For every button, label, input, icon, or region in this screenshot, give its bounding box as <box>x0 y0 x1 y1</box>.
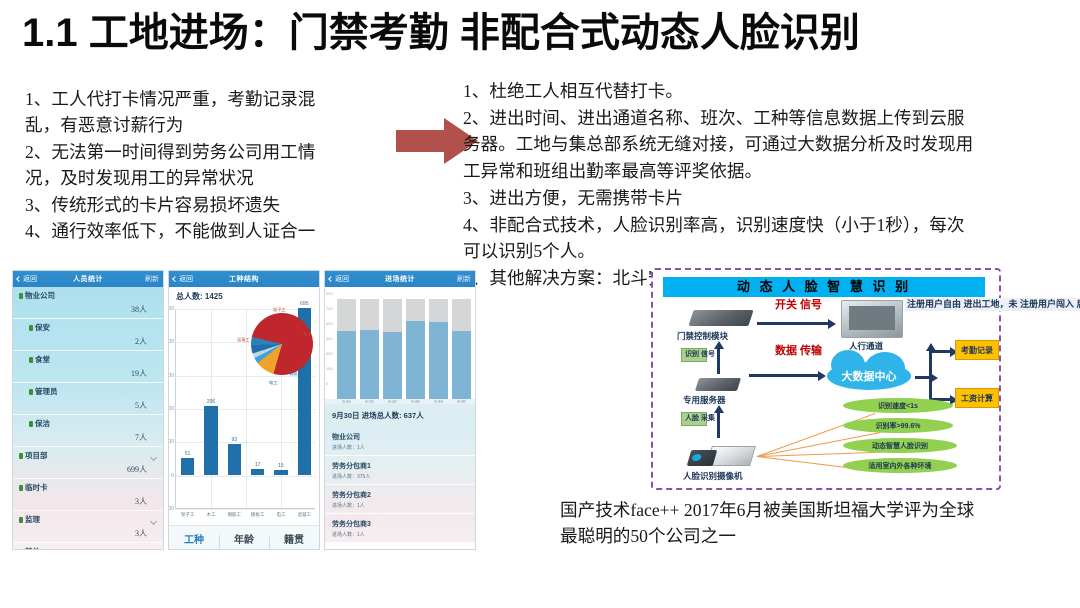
data-transfer-label: 数据 传输 <box>775 346 822 358</box>
data-transfer-arrow <box>749 374 819 377</box>
x-tick-label: 9-28 <box>406 399 425 404</box>
list-item-name: 劳务分包商2 <box>332 490 468 500</box>
face-capture-arrow <box>717 412 720 438</box>
phone1-navbar: 返回 人员统计 刷新 <box>13 271 163 287</box>
list-item-count: 3人 <box>135 528 147 539</box>
list-item[interactable]: 劳务分包商2进场人数：1人 <box>325 485 475 514</box>
list-item[interactable]: 保安2人 <box>13 319 163 351</box>
bar-value: 695 <box>300 301 308 307</box>
attendance-arrow <box>929 350 951 353</box>
bar-fill <box>337 331 356 399</box>
y-tick-label: 150 <box>326 366 333 371</box>
bar-rect <box>204 406 217 475</box>
list-item[interactable]: 其他107人 <box>13 543 163 550</box>
right-item-1: 1、杜绝工人相互代替打卡。 <box>463 78 1075 105</box>
list-item-count: 3人 <box>135 496 147 507</box>
pie-label-0: 架子工 <box>273 307 286 313</box>
bar: 15 <box>274 463 287 475</box>
group-icon <box>19 517 23 523</box>
left-problem-list: 1、工人代打卡情况严重，考勤记录混 乱，有恶意讨薪行为 2、无法第一时间得到劳务… <box>25 86 395 244</box>
list-item[interactable]: 物业公司进场人数：1人 <box>325 427 475 456</box>
list-item-text: 食堂 <box>35 354 50 365</box>
bar <box>383 299 402 399</box>
page-title: 1.1 工地进场：门禁考勤 非配合式动态人脸识别 <box>22 10 1062 56</box>
y-tick-label: 400 <box>168 339 174 345</box>
phone3-title: 进场统计 <box>365 274 435 284</box>
bar <box>406 299 425 399</box>
access-control-module-icon <box>688 310 753 326</box>
y-tick-label: 900 <box>326 291 333 296</box>
bar-fill <box>360 330 379 399</box>
list-item[interactable]: 劳务分包商3进场人数：1人 <box>325 514 475 543</box>
x-tick-label: 木工 <box>199 512 222 518</box>
bar-value: 93 <box>232 437 238 443</box>
list-item[interactable]: 物业公司38人 <box>13 287 163 319</box>
x-tick-label: 9-26 <box>383 399 402 404</box>
bar-value: 51 <box>185 451 191 457</box>
phone3-list[interactable]: 物业公司进场人数：1人劳务分包商1进场人数：375人劳务分包商2进场人数：1人劳… <box>325 427 475 543</box>
y-tick-label: 750 <box>326 306 333 311</box>
bar <box>429 299 448 399</box>
chevron-left-icon <box>172 276 178 282</box>
server-icon <box>695 378 741 391</box>
attendance-record-tag: 考勤记录 <box>955 340 999 360</box>
switch-signal-label: 开关 信号 <box>775 300 822 312</box>
bar-fill <box>429 322 448 399</box>
camera-label: 人脸识别摄像机 <box>683 470 743 482</box>
work-type-pie-chart <box>251 313 313 375</box>
y-tick-label: 600 <box>326 321 333 326</box>
list-item[interactable]: 食堂19人 <box>13 351 163 383</box>
list-item-text: 项目部 <box>25 450 48 461</box>
face-capture-tag: 人脸 采集 <box>681 412 707 426</box>
group-icon <box>29 325 33 331</box>
tab-工种[interactable]: 工种 <box>169 531 219 546</box>
recognition-signal-arrow <box>717 348 720 374</box>
list-item[interactable]: 项目部699人 <box>13 447 163 479</box>
list-item-count: 2人 <box>135 336 147 347</box>
list-item-sub: 进场人数：1人 <box>332 531 468 538</box>
y-tick-label: -100 <box>168 506 174 512</box>
bar-rect <box>181 458 194 475</box>
y-tick-label: 300 <box>168 373 174 379</box>
right-item-2: 2、进出时间、进出通道名称、班次、工种等信息数据上传到云服 务器。工地与集总部系… <box>463 105 1075 185</box>
phone2-title: 工种结构 <box>209 274 279 284</box>
datacenter-cloud: 大数据中心 <box>827 362 911 390</box>
list-item[interactable]: 管理员5人 <box>13 383 163 415</box>
pie-label-2: 钢筋工 <box>289 371 302 377</box>
switch-signal-arrow <box>757 322 829 325</box>
pedestrian-gate-inner <box>849 306 895 330</box>
list-item-count: 7人 <box>135 432 147 443</box>
accuracy-pill: 识别率>99.6% <box>843 418 953 433</box>
x-tick-label: 9-24 <box>337 399 356 404</box>
list-item-count: 38人 <box>131 304 147 315</box>
y-tick-label: 300 <box>326 351 333 356</box>
x-tick-label: 9-30 <box>452 399 471 404</box>
list-item-count: 19人 <box>131 368 147 379</box>
salary-calculation-tag: 工资计算 <box>955 388 999 408</box>
datacenter-label: 大数据中心 <box>842 368 897 384</box>
phone1-back-label: 返回 <box>23 274 37 284</box>
x-tick-label: 9-29 <box>429 399 448 404</box>
phone3-refresh-button[interactable]: 刷新 <box>435 274 471 284</box>
bar-value: 15 <box>278 463 284 469</box>
bar-fill <box>406 321 425 399</box>
list-item[interactable]: 保洁7人 <box>13 415 163 447</box>
x-tick-label: 钢筋工 <box>223 512 246 518</box>
phone3-back-label: 返回 <box>335 274 349 284</box>
chevron-left-icon <box>328 276 334 282</box>
list-item-label: 保洁 <box>19 418 157 429</box>
phone2-back-button[interactable]: 返回 <box>173 274 209 284</box>
face-recognition-diagram: 动 态 人 脸 智 慧 识 别 门禁控制模块 开关 信号 人行通道 注册用户自由… <box>651 268 1001 490</box>
bar-value: 17 <box>255 462 261 468</box>
y-tick-label: 200 <box>168 406 174 412</box>
bar: 51 <box>181 451 194 475</box>
bar: 206 <box>204 399 217 475</box>
phone3-body: 9007506004503001500 9-249-259-269-289-29… <box>325 287 475 550</box>
phone2-body: 总人数: 1425 -100010020030040050051架子工206木工… <box>169 287 319 550</box>
bar-rect <box>228 444 241 475</box>
entry-trend-chart: 9007506004503001500 <box>325 287 475 399</box>
y-tick-label: 100 <box>168 439 174 445</box>
list-item-sub: 进场人数：375人 <box>332 473 468 480</box>
phone1-back-button[interactable]: 返回 <box>17 274 53 284</box>
list-item-text: 物业公司 <box>25 290 55 301</box>
list-item-label: 临时卡 <box>19 482 157 493</box>
dynamic-recognition-pill: 动态智慧人脸识别 <box>843 438 957 453</box>
list-item-name: 劳务分包商3 <box>332 519 468 529</box>
list-item-sub: 进场人数：1人 <box>332 502 468 509</box>
x-tick-label: 架子工 <box>176 512 199 518</box>
bar: 93 <box>228 437 241 475</box>
phone1-list[interactable]: 物业公司38人保安2人食堂19人管理员5人保洁7人项目部699人临时卡3人监理3… <box>13 287 163 550</box>
list-item-text: 保安 <box>35 322 50 333</box>
bar-rect <box>251 469 264 475</box>
phone3-back-button[interactable]: 返回 <box>329 274 365 284</box>
list-item[interactable]: 临时卡3人 <box>13 479 163 511</box>
list-item-count: 699人 <box>127 464 147 475</box>
list-item-text: 其他 <box>25 546 40 550</box>
bar: 17 <box>251 462 264 475</box>
tab-年龄[interactable]: 年龄 <box>219 531 269 546</box>
gridline <box>176 509 315 510</box>
x-tick-label: 9-25 <box>360 399 379 404</box>
list-item-label: 管理员 <box>19 386 157 397</box>
tab-籍贯[interactable]: 籍贯 <box>269 531 319 546</box>
y-tick-label: 0 <box>168 473 174 479</box>
environment-pill: 适用室内外各种环境 <box>843 458 957 473</box>
chevron-left-icon <box>16 276 22 282</box>
registration-note: 注册用户自由 进出工地，未 注册用户闯入 后台自动报警 <box>905 298 1080 311</box>
list-item-text: 临时卡 <box>25 482 48 493</box>
arrow-shaft <box>396 130 446 152</box>
camera-lens-icon <box>687 450 718 466</box>
group-icon <box>29 421 33 427</box>
pie-label-3: 电工 <box>269 380 277 386</box>
datacenter-branch-trunk <box>929 350 932 400</box>
right-item-3: 3、进出方便，无需携带卡片 <box>463 185 1075 212</box>
list-item[interactable]: 监理3人 <box>13 511 163 543</box>
bar <box>452 299 471 399</box>
list-item-label: 保安 <box>19 322 157 333</box>
bar-fill <box>383 332 402 399</box>
list-item[interactable]: 劳务分包商1进场人数：375人 <box>325 456 475 485</box>
group-icon <box>19 549 23 551</box>
right-item-4: 4、非配合式技术，人脸识别率高，识别速度快（小于1秒），每次 可以识别5个人。 <box>463 212 1075 265</box>
phone-work-type-structure: 返回 工种结构 总人数: 1425 -100010020030040050051… <box>168 270 320 550</box>
bar <box>360 299 379 399</box>
y-tick-label: 0 <box>326 381 328 386</box>
list-item-label: 监理 <box>19 514 157 525</box>
bar-fill <box>452 331 471 399</box>
phone-entry-statistics: 返回 进场统计 刷新 9007506004503001500 9-249-259… <box>324 270 476 550</box>
face-plus-plus-caption: 国产技术face++ 2017年6月被美国斯坦福大学评为全球 最聪明的50个公司… <box>560 498 1060 549</box>
list-item-count: 5人 <box>135 400 147 411</box>
left-item-1: 1、工人代打卡情况严重，考勤记录混 乱，有恶意讨薪行为 <box>25 86 395 139</box>
app-screenshot-row: 返回 人员统计 刷新 物业公司38人保安2人食堂19人管理员5人保洁7人项目部6… <box>12 270 477 550</box>
recognition-signal-tag: 识别 信号 <box>681 348 707 362</box>
bar-rect <box>274 470 287 475</box>
phone2-total-label: 总人数: 1425 <box>169 287 319 302</box>
right-benefit-list: 1、杜绝工人相互代替打卡。 2、进出时间、进出通道名称、班次、工种等信息数据上传… <box>463 78 1075 292</box>
group-icon <box>29 357 33 363</box>
group-icon <box>19 453 23 459</box>
phone1-title: 人员统计 <box>53 274 123 284</box>
list-item-text: 管理员 <box>35 386 58 397</box>
y-tick-label: 450 <box>326 336 333 341</box>
list-item-text: 保洁 <box>35 418 50 429</box>
pie-label-4: 混凝工 <box>237 337 250 343</box>
x-tick-label: 电工 <box>269 512 292 518</box>
phone2-back-label: 返回 <box>179 274 193 284</box>
left-item-3: 3、传统形式的卡片容易损坏遗失 <box>25 192 395 218</box>
left-item-4: 4、通行效率低下，不能做到人证合一 <box>25 218 395 244</box>
phone-personnel-statistics: 返回 人员统计 刷新 物业公司38人保安2人食堂19人管理员5人保洁7人项目部6… <box>12 270 164 550</box>
phone3-summary: 9月30日 进场总人数: 637人 <box>325 404 475 427</box>
phone1-refresh-button[interactable]: 刷新 <box>123 274 159 284</box>
list-item-sub: 进场人数：1人 <box>332 444 468 451</box>
list-item-label: 食堂 <box>19 354 157 365</box>
list-item-label: 物业公司 <box>19 290 157 301</box>
bar <box>337 299 356 399</box>
entry-trend-xlabels: 9-249-259-269-289-299-30 <box>325 399 475 404</box>
phone2-navbar: 返回 工种结构 <box>169 271 319 287</box>
list-item-label: 其他 <box>19 546 157 550</box>
x-tick-label: 模板工 <box>246 512 269 518</box>
group-icon <box>19 293 23 299</box>
phone3-navbar: 返回 进场统计 刷新 <box>325 271 475 287</box>
diagram-title: 动 态 人 脸 智 慧 识 别 <box>663 277 985 297</box>
group-icon <box>29 389 33 395</box>
speed-pill: 识别速度<1s <box>843 398 953 413</box>
pie-label-1: 木工 <box>303 331 311 337</box>
list-item-name: 劳务分包商1 <box>332 461 468 471</box>
phone2-tabs: 工种年龄籍贯 <box>169 525 319 550</box>
group-icon <box>19 485 23 491</box>
list-item-name: 物业公司 <box>332 432 468 442</box>
left-item-2: 2、无法第一时间得到劳务公司用工情 况，及时发现用工的异常状况 <box>25 139 395 192</box>
x-tick-label: 混凝工 <box>293 512 316 518</box>
list-item-text: 监理 <box>25 514 40 525</box>
list-item-label: 项目部 <box>19 450 157 461</box>
y-tick-label: 500 <box>168 306 174 312</box>
bar-value: 206 <box>207 399 215 405</box>
